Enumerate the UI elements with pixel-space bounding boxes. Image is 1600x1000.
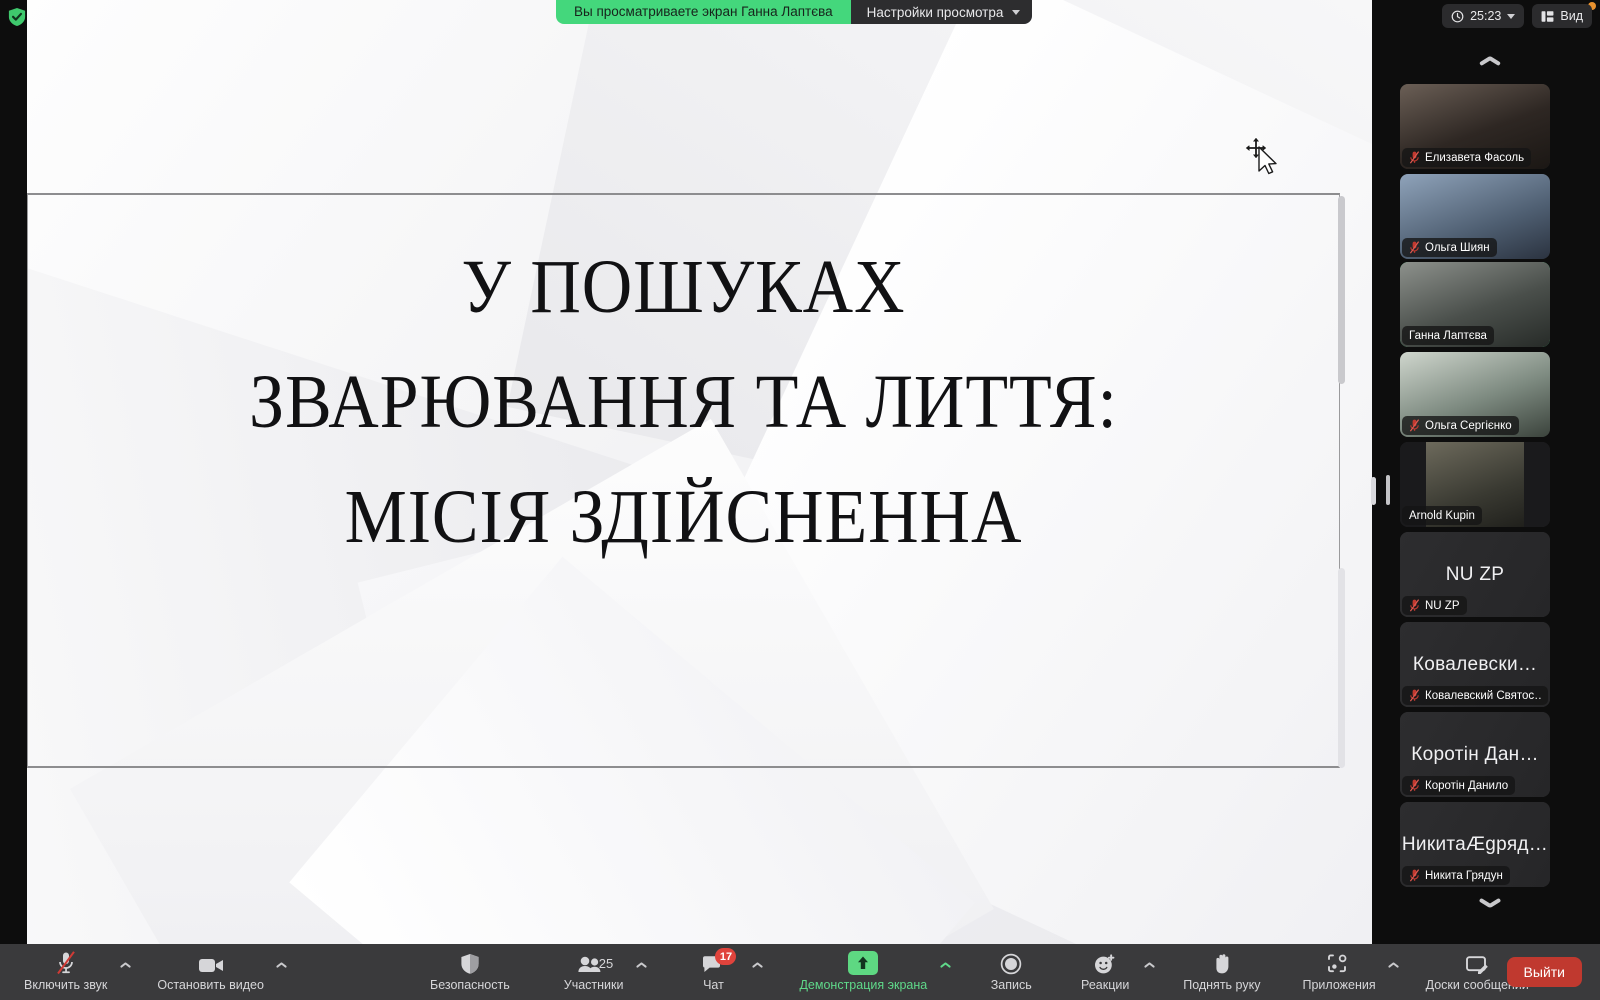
- leave-label: Выйти: [1524, 964, 1565, 980]
- meeting-toolbar: Включить звук Остановить видео: [0, 944, 1600, 1000]
- chevron-down-icon: [1479, 898, 1501, 909]
- zoom-meeting-window: У ПОШУКАХ ЗВАРЮВАННЯ ТА ЛИТТЯ: МІСІЯ ЗДІ…: [0, 0, 1600, 1000]
- participant-name-chip: Ковалевский Святос…: [1402, 686, 1548, 705]
- participant-name-chip: Arnold Kupin: [1402, 506, 1482, 525]
- shared-content-scrollbar[interactable]: [1338, 196, 1345, 384]
- microphone-muted-icon: [1409, 241, 1420, 254]
- slide-title: У ПОШУКАХ ЗВАРЮВАННЯ ТА ЛИТТЯ: МІСІЯ ЗДІ…: [80, 230, 1288, 575]
- participant-tile[interactable]: НикитаÆgряд…Никита Грядун: [1400, 802, 1550, 887]
- shield-icon: [460, 953, 480, 975]
- raise-hand-label: Поднять руку: [1183, 978, 1260, 992]
- reactions-options-arrow[interactable]: [1141, 944, 1157, 1000]
- participant-name-chip: Ольга Сергієнко: [1402, 416, 1519, 435]
- raise-hand-button[interactable]: Поднять руку: [1173, 944, 1270, 1000]
- apps-options-arrow[interactable]: [1386, 944, 1402, 1000]
- participant-name-chip: Елизавета Фасоль: [1402, 148, 1531, 167]
- participant-tile[interactable]: Коротін Дан…Коротін Данило: [1400, 712, 1550, 797]
- participant-name: Ольга Сергієнко: [1425, 420, 1512, 432]
- microphone-muted-icon: [1409, 779, 1420, 792]
- chevron-down-icon: [1507, 14, 1515, 19]
- chevron-up-icon: [636, 962, 647, 969]
- participant-name: NU ZP: [1425, 600, 1460, 612]
- apps-label: Приложения: [1302, 978, 1375, 992]
- scroll-participants-down-button[interactable]: [1379, 888, 1600, 918]
- share-screen-up-arrow-icon: [848, 953, 878, 975]
- participants-button[interactable]: Участники 25: [554, 944, 634, 1000]
- meeting-timer[interactable]: 25:23: [1442, 4, 1524, 28]
- smiley-plus-icon: [1093, 953, 1117, 975]
- participant-name: Елизавета Фасоль: [1425, 152, 1524, 164]
- viewing-screen-label: Вы просматриваете экран Ганна Лаптєва: [556, 0, 851, 24]
- chevron-up-icon: [120, 962, 131, 969]
- apps-button[interactable]: Приложения: [1292, 944, 1385, 1000]
- chevron-up-icon: [1388, 962, 1399, 969]
- chevron-up-icon: [940, 962, 951, 969]
- chat-options-arrow[interactable]: [749, 944, 765, 1000]
- microphone-muted-icon: [1409, 869, 1420, 882]
- participant-tile[interactable]: Ольга Сергієнко: [1400, 352, 1550, 437]
- share-options-arrow[interactable]: [937, 944, 953, 1000]
- apps-icon: [1327, 953, 1351, 975]
- participant-tile[interactable]: Ганна Лаптєва: [1400, 262, 1550, 347]
- chat-unread-badge: 17: [715, 948, 736, 965]
- participant-name: Ольга Шиян: [1425, 242, 1490, 254]
- participants-label: Участники: [564, 978, 624, 992]
- chevron-up-icon: [1479, 56, 1501, 67]
- microphone-muted-icon: [1409, 419, 1420, 432]
- stop-video-label: Остановить видео: [157, 978, 264, 992]
- sidebar-top-controls: 25:23 Вид: [1442, 4, 1592, 28]
- reactions-button[interactable]: Реакции: [1069, 944, 1141, 1000]
- participant-name-chip: NU ZP: [1402, 596, 1467, 615]
- shield-check-icon: [8, 7, 26, 27]
- reactions-label: Реакции: [1081, 978, 1129, 992]
- sidebar-scrollbar-handle[interactable]: [1386, 475, 1390, 505]
- view-label: Вид: [1560, 9, 1583, 23]
- view-button[interactable]: Вид: [1532, 4, 1592, 28]
- participant-name-chip: Ганна Лаптєва: [1402, 326, 1494, 345]
- leave-meeting-button[interactable]: Выйти: [1507, 957, 1582, 987]
- audio-options-arrow[interactable]: [117, 944, 133, 1000]
- raised-hand-icon: [1211, 953, 1233, 975]
- participant-tile[interactable]: Arnold Kupin: [1400, 442, 1550, 527]
- record-label: Запись: [991, 978, 1032, 992]
- chevron-down-icon: [1012, 10, 1020, 15]
- record-circle-icon: [1000, 953, 1022, 975]
- participant-tile[interactable]: Ковалевски…Ковалевский Святос…: [1400, 622, 1550, 707]
- screen-share-banner: Вы просматриваете экран Ганна Лаптєва На…: [556, 0, 1032, 24]
- chevron-up-icon: [1144, 962, 1155, 969]
- clock-icon: [1451, 10, 1464, 23]
- microphone-muted-icon: [1409, 599, 1420, 612]
- timer-value: 25:23: [1470, 9, 1501, 23]
- scroll-participants-up-button[interactable]: [1379, 46, 1600, 76]
- video-options-arrow[interactable]: [274, 944, 290, 1000]
- share-screen-label: Демонстрация экрана: [799, 978, 927, 992]
- camera-icon: [197, 953, 225, 975]
- chevron-up-icon: [276, 962, 287, 969]
- sidebar-divider-handle[interactable]: [1371, 477, 1376, 505]
- record-button[interactable]: Запись: [975, 944, 1047, 1000]
- chevron-up-icon: [752, 962, 763, 969]
- participants-count: 25: [599, 956, 613, 971]
- microphone-muted-icon: [53, 953, 79, 975]
- participant-name-chip: Коротін Данило: [1402, 776, 1515, 795]
- participant-name: Никита Грядун: [1425, 870, 1503, 882]
- shared-content-scrollbar-secondary[interactable]: [1338, 568, 1345, 768]
- whiteboard-icon: [1465, 953, 1489, 975]
- participants-options-arrow[interactable]: [633, 944, 649, 1000]
- chat-label: Чат: [703, 978, 724, 992]
- move-cursor-icon: [1243, 133, 1283, 175]
- unmute-label: Включить звук: [24, 978, 107, 992]
- stop-video-button[interactable]: Остановить видео: [147, 944, 274, 1000]
- security-button[interactable]: Безопасность: [420, 944, 520, 1000]
- unmute-button[interactable]: Включить звук: [14, 944, 117, 1000]
- microphone-muted-icon: [1409, 689, 1420, 702]
- participant-name-chip: Никита Грядун: [1402, 866, 1510, 885]
- participant-name: Ганна Лаптєва: [1409, 330, 1487, 342]
- view-options-label: Настройки просмотра: [867, 5, 1004, 20]
- security-label: Безопасность: [430, 978, 510, 992]
- shared-screen-stage: У ПОШУКАХ ЗВАРЮВАННЯ ТА ЛИТТЯ: МІСІЯ ЗДІ…: [0, 0, 1379, 944]
- share-screen-button[interactable]: Демонстрация экрана: [789, 944, 937, 1000]
- view-options-button[interactable]: Настройки просмотра: [851, 0, 1033, 24]
- participant-tile[interactable]: Елизавета Фасоль: [1400, 84, 1550, 169]
- chat-button[interactable]: Чат 17: [677, 944, 749, 1000]
- participant-name: Arnold Kupin: [1409, 510, 1475, 522]
- microphone-muted-icon: [1409, 151, 1420, 164]
- participant-name: Ковалевский Святос…: [1425, 690, 1541, 702]
- participant-tile[interactable]: NU ZPNU ZP: [1400, 532, 1550, 617]
- participant-name-chip: Ольга Шиян: [1402, 238, 1497, 257]
- participant-name: Коротін Данило: [1425, 780, 1508, 792]
- participant-tile[interactable]: Ольга Шиян: [1400, 174, 1550, 259]
- layout-icon: [1541, 10, 1554, 23]
